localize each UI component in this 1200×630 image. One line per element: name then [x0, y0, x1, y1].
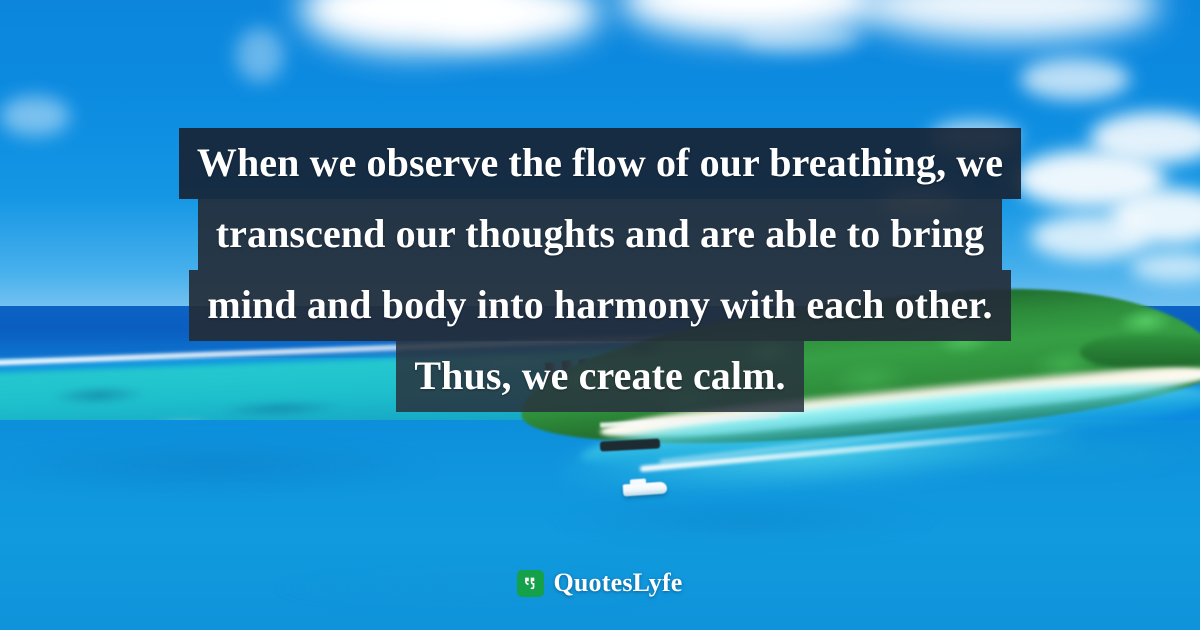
cloud-icon — [740, 24, 860, 52]
quote-mark-icon — [517, 570, 544, 597]
quote-line-2: transcend our thoughts and are able to b… — [198, 199, 1003, 270]
quote-line-1: When we observe the flow of our breathin… — [179, 128, 1021, 199]
speedboat-cabin — [630, 478, 646, 485]
brand-name: QuotesLyfe — [553, 568, 682, 598]
cloud-icon — [236, 28, 284, 82]
quote-block: When we observe the flow of our breathin… — [0, 128, 1200, 412]
quote-line-3: mind and body into harmony with each oth… — [189, 270, 1010, 341]
quote-line-4: Thus, we create calm. — [396, 341, 803, 412]
brand-watermark[interactable]: QuotesLyfe — [0, 568, 1200, 598]
cloud-icon — [1020, 58, 1130, 100]
